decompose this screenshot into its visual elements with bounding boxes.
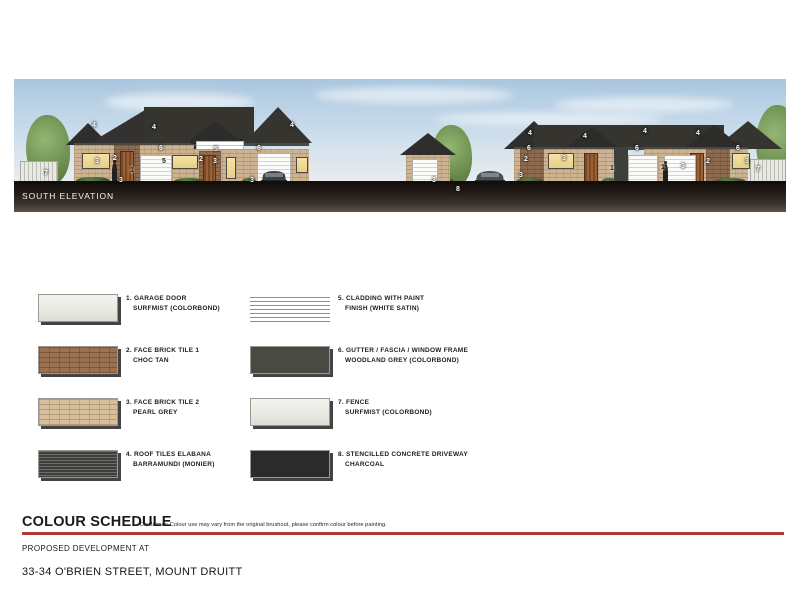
- swatch-garage-door-surfmist: [38, 294, 118, 322]
- window: [296, 157, 308, 173]
- legend-line-2: CHARCOAL: [338, 460, 528, 470]
- legend-line-1: 3. FACE BRICK TILE 2: [126, 399, 199, 406]
- legend-label: 8. STENCILLED CONCRETE DRIVEWAY CHARCOAL: [338, 450, 528, 470]
- window: [732, 153, 750, 169]
- window: [172, 155, 198, 169]
- legend-line-1: 2. FACE BRICK TILE 1: [126, 347, 199, 354]
- cloud-shape: [554, 97, 734, 112]
- porch-gable-roof: [189, 121, 241, 141]
- swatch-roof-tiles-elabana-barramundi: [38, 450, 118, 478]
- swatch-stencilled-concrete-driveway-charcoal: [250, 450, 330, 478]
- roof-hip-right: [244, 107, 312, 143]
- legend-line-1: 8. STENCILLED CONCRETE DRIVEWAY: [338, 451, 468, 458]
- swatch-face-brick-tile-2-pearl-grey: [38, 398, 118, 426]
- legend-line-1: 6. GUTTER / FASCIA / WINDOW FRAME: [338, 347, 468, 354]
- title-block: COLOUR SCHEDULE Disclaimer: Colour use m…: [22, 512, 782, 578]
- window: [548, 153, 574, 169]
- swatch-gutter-fascia-window-frame-woodland-grey: [250, 346, 330, 374]
- south-elevation-render: SOUTH ELEVATION: [14, 79, 786, 212]
- legend-line-2: FINISH (WHITE SATIN): [338, 304, 528, 314]
- porch-gable-roof: [686, 125, 742, 147]
- legend-label: 7. FENCE SURFMIST (COLORBOND): [338, 398, 528, 418]
- wall-cladding: [614, 147, 628, 185]
- title-rule-divider: [22, 532, 784, 535]
- front-door: [120, 151, 134, 185]
- legend-line-2: SURFMIST (COLORBOND): [338, 408, 528, 418]
- colour-legend: 1. GARAGE DOOR SURFMIST (COLORBOND) 2. F…: [0, 292, 800, 497]
- project-address: 33-34 O'BRIEN STREET, MOUNT DRUITT: [22, 566, 782, 578]
- cloud-shape: [314, 87, 514, 103]
- garage-door: [412, 159, 438, 183]
- legend-line-1: 1. GARAGE DOOR: [126, 295, 187, 302]
- disclaimer-text: Disclaimer: Colour use may vary from the…: [140, 522, 387, 528]
- window: [226, 157, 236, 179]
- swatch-fence-surfmist: [250, 398, 330, 426]
- ground-strip: [14, 184, 786, 212]
- porch-gable-roof: [566, 127, 618, 147]
- legend-line-2: WOODLAND GREY (COLORBOND): [338, 356, 528, 366]
- legend-label: 5. CLADDING WITH PAINT FINISH (WHITE SAT…: [338, 294, 528, 314]
- neighbour-roof: [400, 133, 456, 155]
- legend-line-1: 4. ROOF TILES ELABANA: [126, 451, 211, 458]
- swatch-face-brick-tile-1-choc-tan: [38, 346, 118, 374]
- legend-line-1: 5. CLADDING WITH PAINT: [338, 295, 424, 302]
- title-headline-row: COLOUR SCHEDULE Disclaimer: Colour use m…: [22, 512, 782, 530]
- legend-label: 6. GUTTER / FASCIA / WINDOW FRAME WOODLA…: [338, 346, 528, 366]
- project-subtitle: PROPOSED DEVELOPMENT AT: [22, 544, 782, 553]
- swatch-cladding-white-satin: [250, 294, 330, 322]
- elevation-label: SOUTH ELEVATION: [22, 191, 114, 201]
- legend-line-1: 7. FENCE: [338, 399, 369, 406]
- window: [82, 153, 110, 169]
